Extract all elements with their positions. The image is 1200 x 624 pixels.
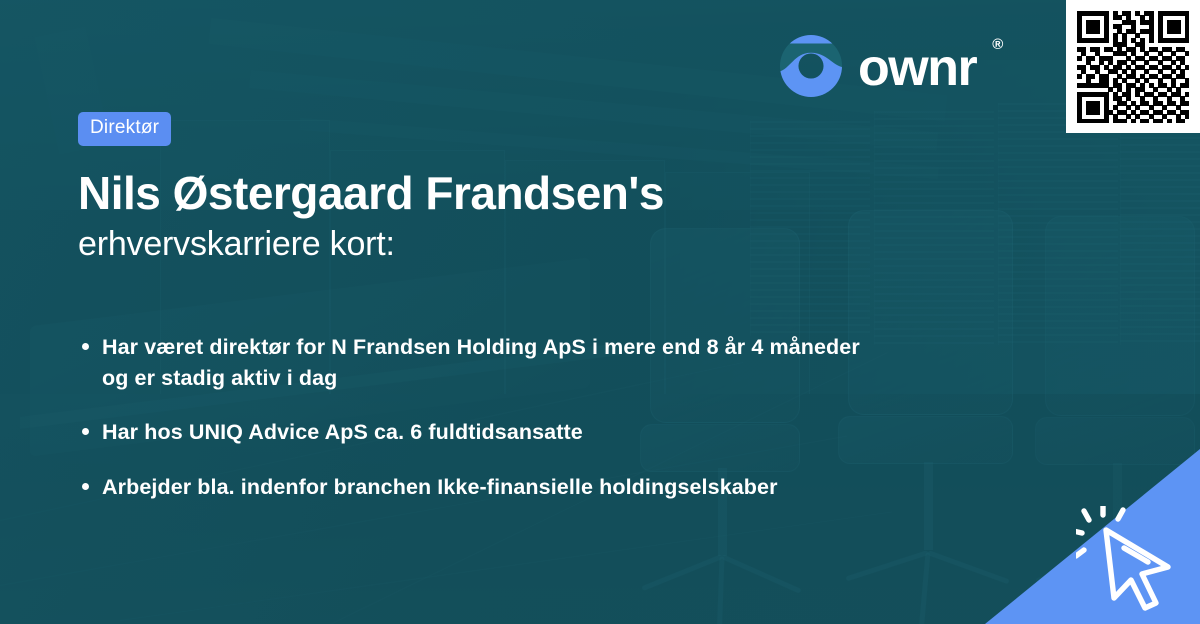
ownr-circle-swoosh-logo-icon bbox=[778, 33, 844, 99]
page-title: Nils Østergaard Frandsen's bbox=[78, 169, 1038, 219]
list-item: Har været direktør for N Frandsen Holdin… bbox=[78, 332, 868, 393]
role-badge: Direktør bbox=[78, 112, 171, 146]
page-subtitle: erhvervskarriere kort: bbox=[78, 226, 1038, 263]
ownr-logo[interactable]: ownr ® bbox=[778, 33, 1001, 99]
registered-trademark-mark: ® bbox=[992, 36, 1003, 53]
career-facts-list: Har været direktør for N Frandsen Holdin… bbox=[78, 332, 1038, 502]
list-item: Har hos UNIQ Advice ApS ca. 6 fuldtidsan… bbox=[78, 417, 868, 448]
click-cursor-icon bbox=[1076, 506, 1188, 616]
qr-code bbox=[1077, 11, 1189, 123]
content-block: Direktør Nils Østergaard Frandsen's erhv… bbox=[78, 112, 1038, 502]
ownr-wordmark: ownr bbox=[858, 42, 976, 94]
list-item: Arbejder bla. indenfor branchen Ikke-fin… bbox=[78, 472, 868, 503]
share-card: ownr ® Direktør Nils Østergaard Frandsen… bbox=[0, 0, 1200, 624]
qr-code-panel[interactable] bbox=[1066, 0, 1200, 133]
